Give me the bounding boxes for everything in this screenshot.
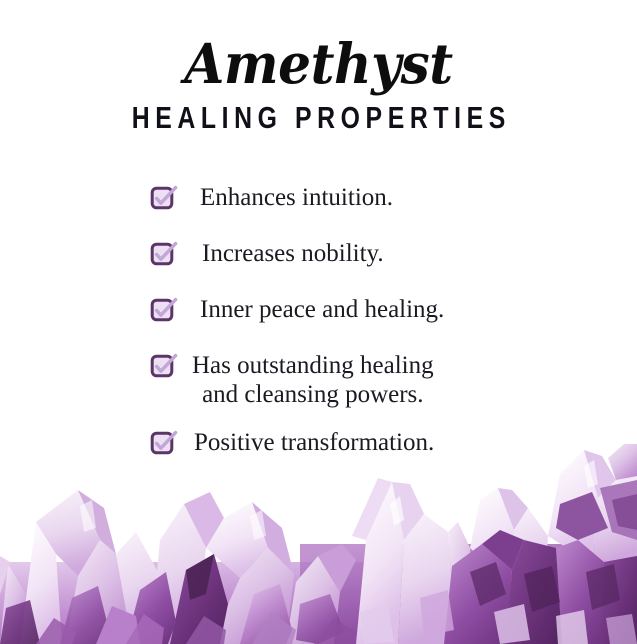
list-item: Increases nobility. (150, 238, 570, 269)
checked-checkbox-icon (150, 239, 180, 269)
list-item-label: Enhances intuition. (200, 182, 393, 212)
list-item: Has outstanding healing and cleansing po… (150, 350, 570, 409)
heading-block: Amethyst HEALING PROPERTIES (0, 34, 637, 135)
healing-properties-list: Enhances intuition. Increases nobility. … (150, 182, 570, 458)
list-item: Enhances intuition. (150, 182, 570, 213)
list-item-label: Increases nobility. (202, 238, 384, 268)
amethyst-poster: Amethyst HEALING PROPERTIES Enhances int… (0, 0, 637, 644)
amethyst-crystal-cluster-photo (0, 444, 637, 644)
checked-checkbox-icon (150, 295, 180, 325)
list-item-label: Has outstanding healing and cleansing po… (192, 350, 434, 409)
list-item: Inner peace and healing. (150, 294, 570, 325)
page-title: Amethyst (19, 34, 618, 94)
checked-checkbox-icon (150, 183, 180, 213)
list-item-label: Inner peace and healing. (200, 294, 444, 324)
checked-checkbox-icon (150, 351, 180, 381)
page-subtitle: HEALING PROPERTIES (64, 101, 574, 135)
